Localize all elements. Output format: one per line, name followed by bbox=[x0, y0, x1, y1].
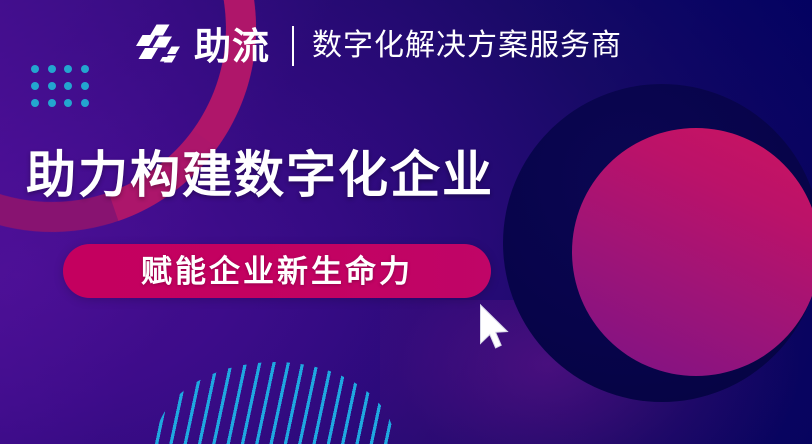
vertical-divider bbox=[292, 26, 294, 66]
grid-dot bbox=[31, 82, 39, 90]
cta-button[interactable]: 赋能企业新生命力 bbox=[63, 244, 491, 298]
brand-tagline: 数字化解决方案服务商 bbox=[312, 31, 622, 61]
magenta-gradient-circle-decoration bbox=[572, 128, 812, 376]
grid-dot bbox=[31, 99, 39, 107]
striped-semicircle-decoration bbox=[155, 362, 395, 444]
grid-dot bbox=[64, 99, 72, 107]
grid-dot bbox=[64, 82, 72, 90]
grid-dot bbox=[48, 99, 56, 107]
grid-dot bbox=[48, 65, 56, 73]
dot-grid-decoration bbox=[31, 65, 97, 116]
brand-name: 助流 bbox=[194, 28, 270, 65]
page-title: 助力构建数字化企业 bbox=[26, 148, 494, 203]
cta-button-label: 赋能企业新生命力 bbox=[141, 256, 413, 287]
grid-dot bbox=[31, 65, 39, 73]
grid-dot bbox=[64, 65, 72, 73]
zhuliu-lightning-logo-icon bbox=[136, 22, 184, 70]
grid-dot bbox=[81, 65, 89, 73]
grid-dot bbox=[81, 99, 89, 107]
grid-dot bbox=[48, 82, 56, 90]
grid-dot bbox=[81, 82, 89, 90]
brand-header: 助流 数字化解决方案服务商 bbox=[136, 20, 622, 72]
promo-banner: 助流 数字化解决方案服务商 助力构建数字化企业 赋能企业新生命力 bbox=[0, 0, 812, 444]
